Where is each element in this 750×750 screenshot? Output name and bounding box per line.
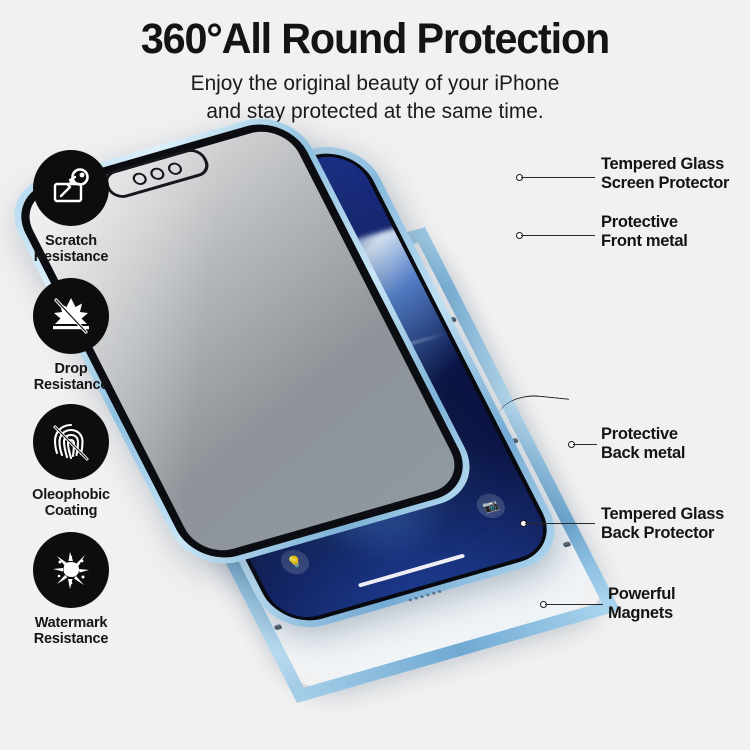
callout-line1: Protective [601, 425, 750, 444]
callout-protective-front-metal: Protective Front metal [601, 213, 750, 251]
fingerprint-icon [33, 404, 109, 480]
leader-line [521, 235, 595, 236]
leader-line [521, 177, 595, 178]
feature-oleophobic-coating: Oleophobic Coating [0, 404, 142, 519]
feature-label-line1: Oleophobic [0, 487, 142, 503]
callout-line1: Protective [601, 213, 750, 232]
feature-watermark-resistance: Watermark Resistance [0, 532, 142, 647]
feature-drop-resistance: Drop Resistance [0, 278, 142, 393]
callout-powerful-magnets: Powerful Magnets [608, 585, 750, 623]
leader-line [545, 604, 603, 605]
product-infographic: 360°All Round Protection Enjoy the origi… [0, 0, 750, 750]
feature-label-line2: Coating [0, 503, 142, 519]
callout-line1: Tempered Glass [601, 155, 750, 174]
feature-label-line2: Resistance [0, 377, 142, 393]
feature-label-line2: Resistance [0, 631, 142, 647]
feature-label-line2: Resistance [0, 249, 142, 265]
callout-line1: Tempered Glass [601, 505, 750, 524]
water-splash-icon [33, 532, 109, 608]
callout-line1: Powerful [608, 585, 750, 604]
callout-line2: Back Protector [601, 524, 750, 543]
callout-line2: Front metal [601, 232, 750, 251]
feature-label-line1: Scratch [0, 233, 142, 249]
leader-line [525, 523, 595, 524]
key-scratch-icon [33, 150, 109, 226]
feature-label-line1: Watermark [0, 615, 142, 631]
callout-line2: Back metal [601, 444, 750, 463]
callout-tempered-glass-back-protector: Tempered Glass Back Protector [601, 505, 750, 543]
callout-line2: Screen Protector [601, 174, 750, 193]
leader-line [573, 444, 597, 445]
callout-tempered-glass-screen-protector: Tempered Glass Screen Protector [601, 155, 750, 193]
impact-burst-icon [33, 278, 109, 354]
feature-scratch-resistance: Scratch Resistance [0, 150, 142, 265]
feature-label-line1: Drop [0, 361, 142, 377]
callout-line2: Magnets [608, 604, 750, 623]
callout-protective-back-metal: Protective Back metal [601, 425, 750, 463]
